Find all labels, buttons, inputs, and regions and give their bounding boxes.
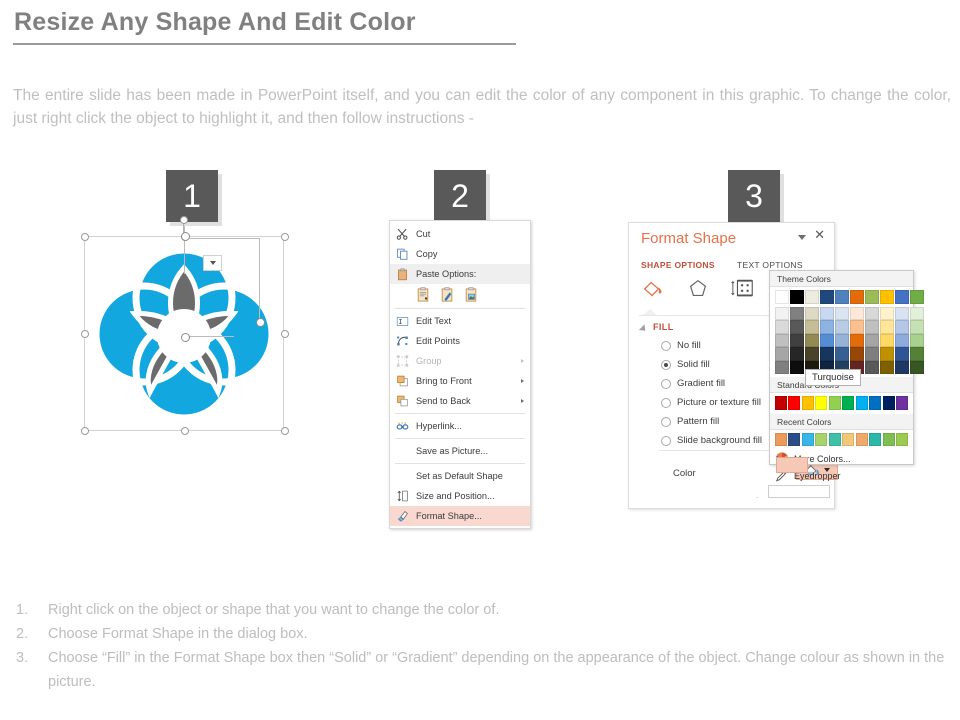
slide-canvas: Resize Any Shape And Edit Color The enti… [0,0,960,720]
standard-color-swatch[interactable] [802,396,814,410]
list-item-text: Right click on the object or shape that … [48,602,499,618]
tab-text-options[interactable]: TEXT OPTIONS [737,260,803,270]
menu-separator [395,438,525,439]
hyperlink-icon [395,419,410,434]
recent-color-swatch[interactable] [856,433,868,447]
theme-color-swatch[interactable] [910,320,924,334]
no-icon [395,469,410,484]
edit-points-icon [395,334,410,349]
fill-option-label: Pattern fill [677,416,719,427]
recent-color-swatch[interactable] [829,433,841,447]
radio-icon[interactable] [661,417,671,427]
menu-item-cut[interactable]: Cut [390,224,530,244]
fill-option-no-fill[interactable]: No fill [661,340,701,351]
theme-color-swatch[interactable] [805,290,819,304]
submenu-arrow-icon [521,379,524,383]
theme-colors-header: Theme Colors [770,271,913,287]
recent-color-swatch[interactable] [842,433,854,447]
color-tooltip: Turquoise [805,369,861,386]
list-item-number: 2. [16,622,40,646]
theme-color-column-4[interactable] [820,290,834,374]
expand-triangle-icon[interactable] [639,324,648,333]
color-field-label: Color [673,468,696,479]
theme-color-swatch[interactable] [790,320,804,334]
adjust-guide-horizontal [184,238,260,239]
list-item-text: Choose “Fill” in the Format Shape box th… [48,650,944,690]
theme-color-swatch[interactable] [805,334,819,348]
theme-color-swatch[interactable] [790,347,804,361]
resize-handle-bm[interactable] [181,427,189,435]
resize-handle-ml[interactable] [81,330,89,338]
menu-item-edit-text[interactable]: Edit Text [390,311,530,331]
theme-color-swatch[interactable] [790,361,804,375]
recent-color-swatch[interactable] [788,433,800,447]
pane-scroll-dropdown[interactable] [203,255,222,271]
theme-color-swatch[interactable] [880,320,894,334]
fill-option-gradient-fill[interactable]: Gradient fill [661,378,725,389]
theme-color-swatch[interactable] [850,347,864,361]
theme-color-swatch[interactable] [880,361,894,375]
menu-item-label: Copy [416,249,437,259]
theme-color-column-2[interactable] [790,290,804,374]
group-icon [395,354,410,369]
theme-color-swatch[interactable] [865,320,879,334]
theme-color-swatch[interactable] [775,361,789,375]
theme-color-swatch[interactable] [910,334,924,348]
theme-color-swatch[interactable] [880,290,894,304]
adjust-handle-top[interactable] [181,232,190,241]
radio-icon[interactable] [661,436,671,446]
standard-color-swatch[interactable] [815,396,827,410]
fill-option-slide-background-fill[interactable]: Slide background fill [661,435,762,446]
menu-separator [395,308,525,309]
menu-item-label: Hyperlink... [416,421,462,431]
standard-color-swatch[interactable] [842,396,854,410]
selected-shape-panel [84,236,284,431]
theme-color-swatch[interactable] [775,307,789,321]
close-icon[interactable]: ✕ [814,228,825,241]
recent-color-swatch[interactable] [869,433,881,447]
theme-color-swatch[interactable] [835,347,849,361]
radio-icon[interactable] [661,379,671,389]
standard-color-swatch[interactable] [896,396,908,410]
paste-merge-formatting-icon[interactable] [440,287,454,303]
theme-color-column-1[interactable] [775,290,789,374]
theme-color-swatch[interactable] [850,334,864,348]
submenu-arrow-icon [521,399,524,403]
theme-color-swatch[interactable] [775,334,789,348]
color-picker-dropdown[interactable]: Theme Colors Standard Colors Recent Colo… [769,270,914,465]
theme-color-swatch[interactable] [775,320,789,334]
rotate-handle[interactable] [180,216,188,224]
list-item: 3. Choose “Fill” in the Format Shape box… [16,646,946,694]
theme-color-column-9[interactable] [895,290,909,374]
fill-option-label: Slide background fill [677,435,762,446]
theme-color-swatch[interactable] [865,347,879,361]
theme-color-swatch[interactable] [895,307,909,321]
copy-icon [395,247,410,262]
menu-item-label: Set as Default Shape [416,471,503,481]
size-position-icon [395,489,410,504]
resize-handle-tl[interactable] [81,233,89,241]
theme-color-swatch[interactable] [835,307,849,321]
theme-color-swatch[interactable] [790,290,804,304]
list-item: 1. Right click on the object or shape th… [16,598,946,622]
resize-handle-bl[interactable] [81,427,89,435]
recent-color-swatch[interactable] [896,433,908,447]
theme-color-swatch[interactable] [895,290,909,304]
instruction-list: 1. Right click on the object or shape th… [16,598,946,694]
adjust-guide-center [184,336,234,337]
format-shape-title: Format Shape [641,230,736,247]
theme-color-column-5[interactable] [835,290,849,374]
theme-color-swatch[interactable] [895,347,909,361]
theme-colors-grid[interactable] [770,287,913,374]
theme-color-column-6[interactable] [850,290,864,374]
menu-item-label: Edit Points [416,336,460,346]
theme-color-swatch[interactable] [820,347,834,361]
theme-color-swatch[interactable] [910,361,924,375]
menu-item-set-as-default-shape[interactable]: Set as Default Shape [390,466,530,486]
theme-color-swatch[interactable] [790,307,804,321]
fill-option-picture-or-texture-fill[interactable]: Picture or texture fill [661,397,761,408]
theme-color-swatch[interactable] [910,347,924,361]
menu-separator [395,413,525,414]
theme-color-swatch[interactable] [775,290,789,304]
step-number-badge-2: 2 [434,170,486,222]
list-item-number: 1. [16,598,40,622]
theme-color-swatch[interactable] [805,307,819,321]
theme-color-swatch[interactable] [865,307,879,321]
submenu-arrow-icon [521,359,524,363]
edit-text-icon [395,314,410,329]
standard-color-swatch[interactable] [788,396,800,410]
title-underline [13,43,516,45]
paste-picture-icon[interactable] [464,287,478,303]
menu-item-hyperlink[interactable]: Hyperlink... [390,416,530,436]
theme-color-swatch[interactable] [850,307,864,321]
menu-item-copy[interactable]: Copy [390,244,530,264]
scissors-icon [395,227,410,242]
standard-color-swatch[interactable] [869,396,881,410]
theme-color-swatch[interactable] [880,307,894,321]
chevron-down-icon[interactable] [798,235,806,240]
fill-option-label: No fill [677,340,701,351]
shape-option-icon-row [641,277,781,307]
theme-color-swatch[interactable] [895,334,909,348]
send-to-back-icon [395,394,410,409]
theme-color-swatch[interactable] [850,320,864,334]
page-title: Resize Any Shape And Edit Color [14,8,416,37]
theme-color-swatch[interactable] [895,361,909,375]
theme-color-column-10[interactable] [910,290,924,374]
theme-color-swatch[interactable] [910,290,924,304]
standard-color-swatch[interactable] [856,396,868,410]
spinner-dot: . [756,491,758,500]
theme-color-swatch[interactable] [835,334,849,348]
bring-to-front-icon [395,374,410,389]
resize-handle-mr[interactable] [281,330,289,338]
theme-color-column-7[interactable] [865,290,879,374]
chevron-down-icon [210,261,216,265]
standard-colors-row[interactable] [770,393,913,414]
fill-option-pattern-fill[interactable]: Pattern fill [661,416,719,427]
recent-color-swatch[interactable] [883,433,895,447]
standard-color-swatch[interactable] [883,396,895,410]
step-number-badge-1: 1 [166,170,218,222]
theme-color-swatch[interactable] [835,290,849,304]
list-item-number: 3. [16,646,40,670]
theme-color-swatch[interactable] [880,334,894,348]
resize-handle-br[interactable] [281,427,289,435]
standard-color-swatch[interactable] [829,396,841,410]
radio-icon[interactable] [661,341,671,351]
theme-color-column-8[interactable] [880,290,894,374]
menu-item-label: Group [416,356,442,366]
theme-color-swatch[interactable] [865,290,879,304]
theme-color-swatch[interactable] [880,347,894,361]
theme-color-swatch[interactable] [865,334,879,348]
fill-option-solid-fill[interactable]: Solid fill [661,359,710,370]
adjust-handle-right[interactable] [256,318,265,327]
theme-color-swatch[interactable] [790,334,804,348]
format-shape-icon [395,509,410,524]
theme-color-swatch[interactable] [895,320,909,334]
menu-item-bring-to-front[interactable]: Bring to Front [390,371,530,391]
menu-item-save-as-picture[interactable]: Save as Picture... [390,441,530,461]
menu-item-send-to-back[interactable]: Send to Back [390,391,530,411]
menu-item-label: Save as Picture... [416,446,488,456]
theme-color-swatch[interactable] [865,361,879,375]
resize-handle-tr[interactable] [281,233,289,241]
fill-option-label: Picture or texture fill [677,397,761,408]
menu-item-size-and-position[interactable]: Size and Position... [390,486,530,506]
recent-colors-row[interactable] [770,430,913,451]
adjust-handle-center[interactable] [181,333,190,342]
theme-color-swatch[interactable] [805,320,819,334]
list-item: 2. Choose Format Shape in the dialog box… [16,622,946,646]
fill-section-label: FILL [653,322,674,332]
radio-icon[interactable] [661,398,671,408]
menu-separator [395,463,525,464]
fill-option-label: Solid fill [677,359,710,370]
theme-color-swatch[interactable] [820,307,834,321]
theme-color-swatch[interactable] [910,307,924,321]
theme-color-swatch[interactable] [820,290,834,304]
theme-color-swatch[interactable] [850,290,864,304]
dropdown-bottom-swatch [776,457,808,473]
theme-color-swatch[interactable] [775,347,789,361]
fill-option-label: Gradient fill [677,378,725,389]
recent-color-swatch[interactable] [802,433,814,447]
theme-color-swatch[interactable] [805,347,819,361]
list-item-text: Choose Format Shape in the dialog box. [48,626,308,642]
transparency-spinner[interactable] [768,485,830,498]
step-number-badge-3: 3 [728,170,780,222]
menu-item-label: Send to Back [416,396,471,406]
menu-item-label: Edit Text [416,316,451,326]
menu-item-paste-options[interactable]: Paste Options: [390,264,530,284]
intro-paragraph: The entire slide has been made in PowerP… [13,84,951,130]
menu-item-label: Paste Options: [416,269,476,279]
theme-color-swatch[interactable] [820,320,834,334]
menu-item-group[interactable]: Group [390,351,530,371]
menu-item-label: Format Shape... [416,511,482,521]
paste-keep-formatting-icon[interactable] [416,287,430,303]
right-click-context-menu[interactable]: Cut Copy Paste Options: [389,220,531,529]
adjust-guide-right [259,238,260,322]
recent-color-swatch[interactable] [775,433,787,447]
radio-icon-selected[interactable] [661,360,671,370]
standard-color-swatch[interactable] [775,396,787,410]
menu-item-label: Size and Position... [416,491,495,501]
tab-shape-options[interactable]: SHAPE OPTIONS [641,260,715,270]
paste-icon [395,267,410,282]
menu-item-label: Cut [416,229,430,239]
recent-color-swatch[interactable] [815,433,827,447]
menu-item-edit-points[interactable]: Edit Points [390,331,530,351]
menu-item-format-shape[interactable]: Format Shape... [390,506,530,526]
paste-options-row[interactable] [390,284,530,306]
no-icon [395,444,410,459]
menu-item-label: Bring to Front [416,376,472,386]
theme-color-column-3[interactable] [805,290,819,374]
theme-color-swatch[interactable] [820,334,834,348]
theme-color-swatch[interactable] [835,320,849,334]
recent-colors-header: Recent Colors [770,414,913,430]
